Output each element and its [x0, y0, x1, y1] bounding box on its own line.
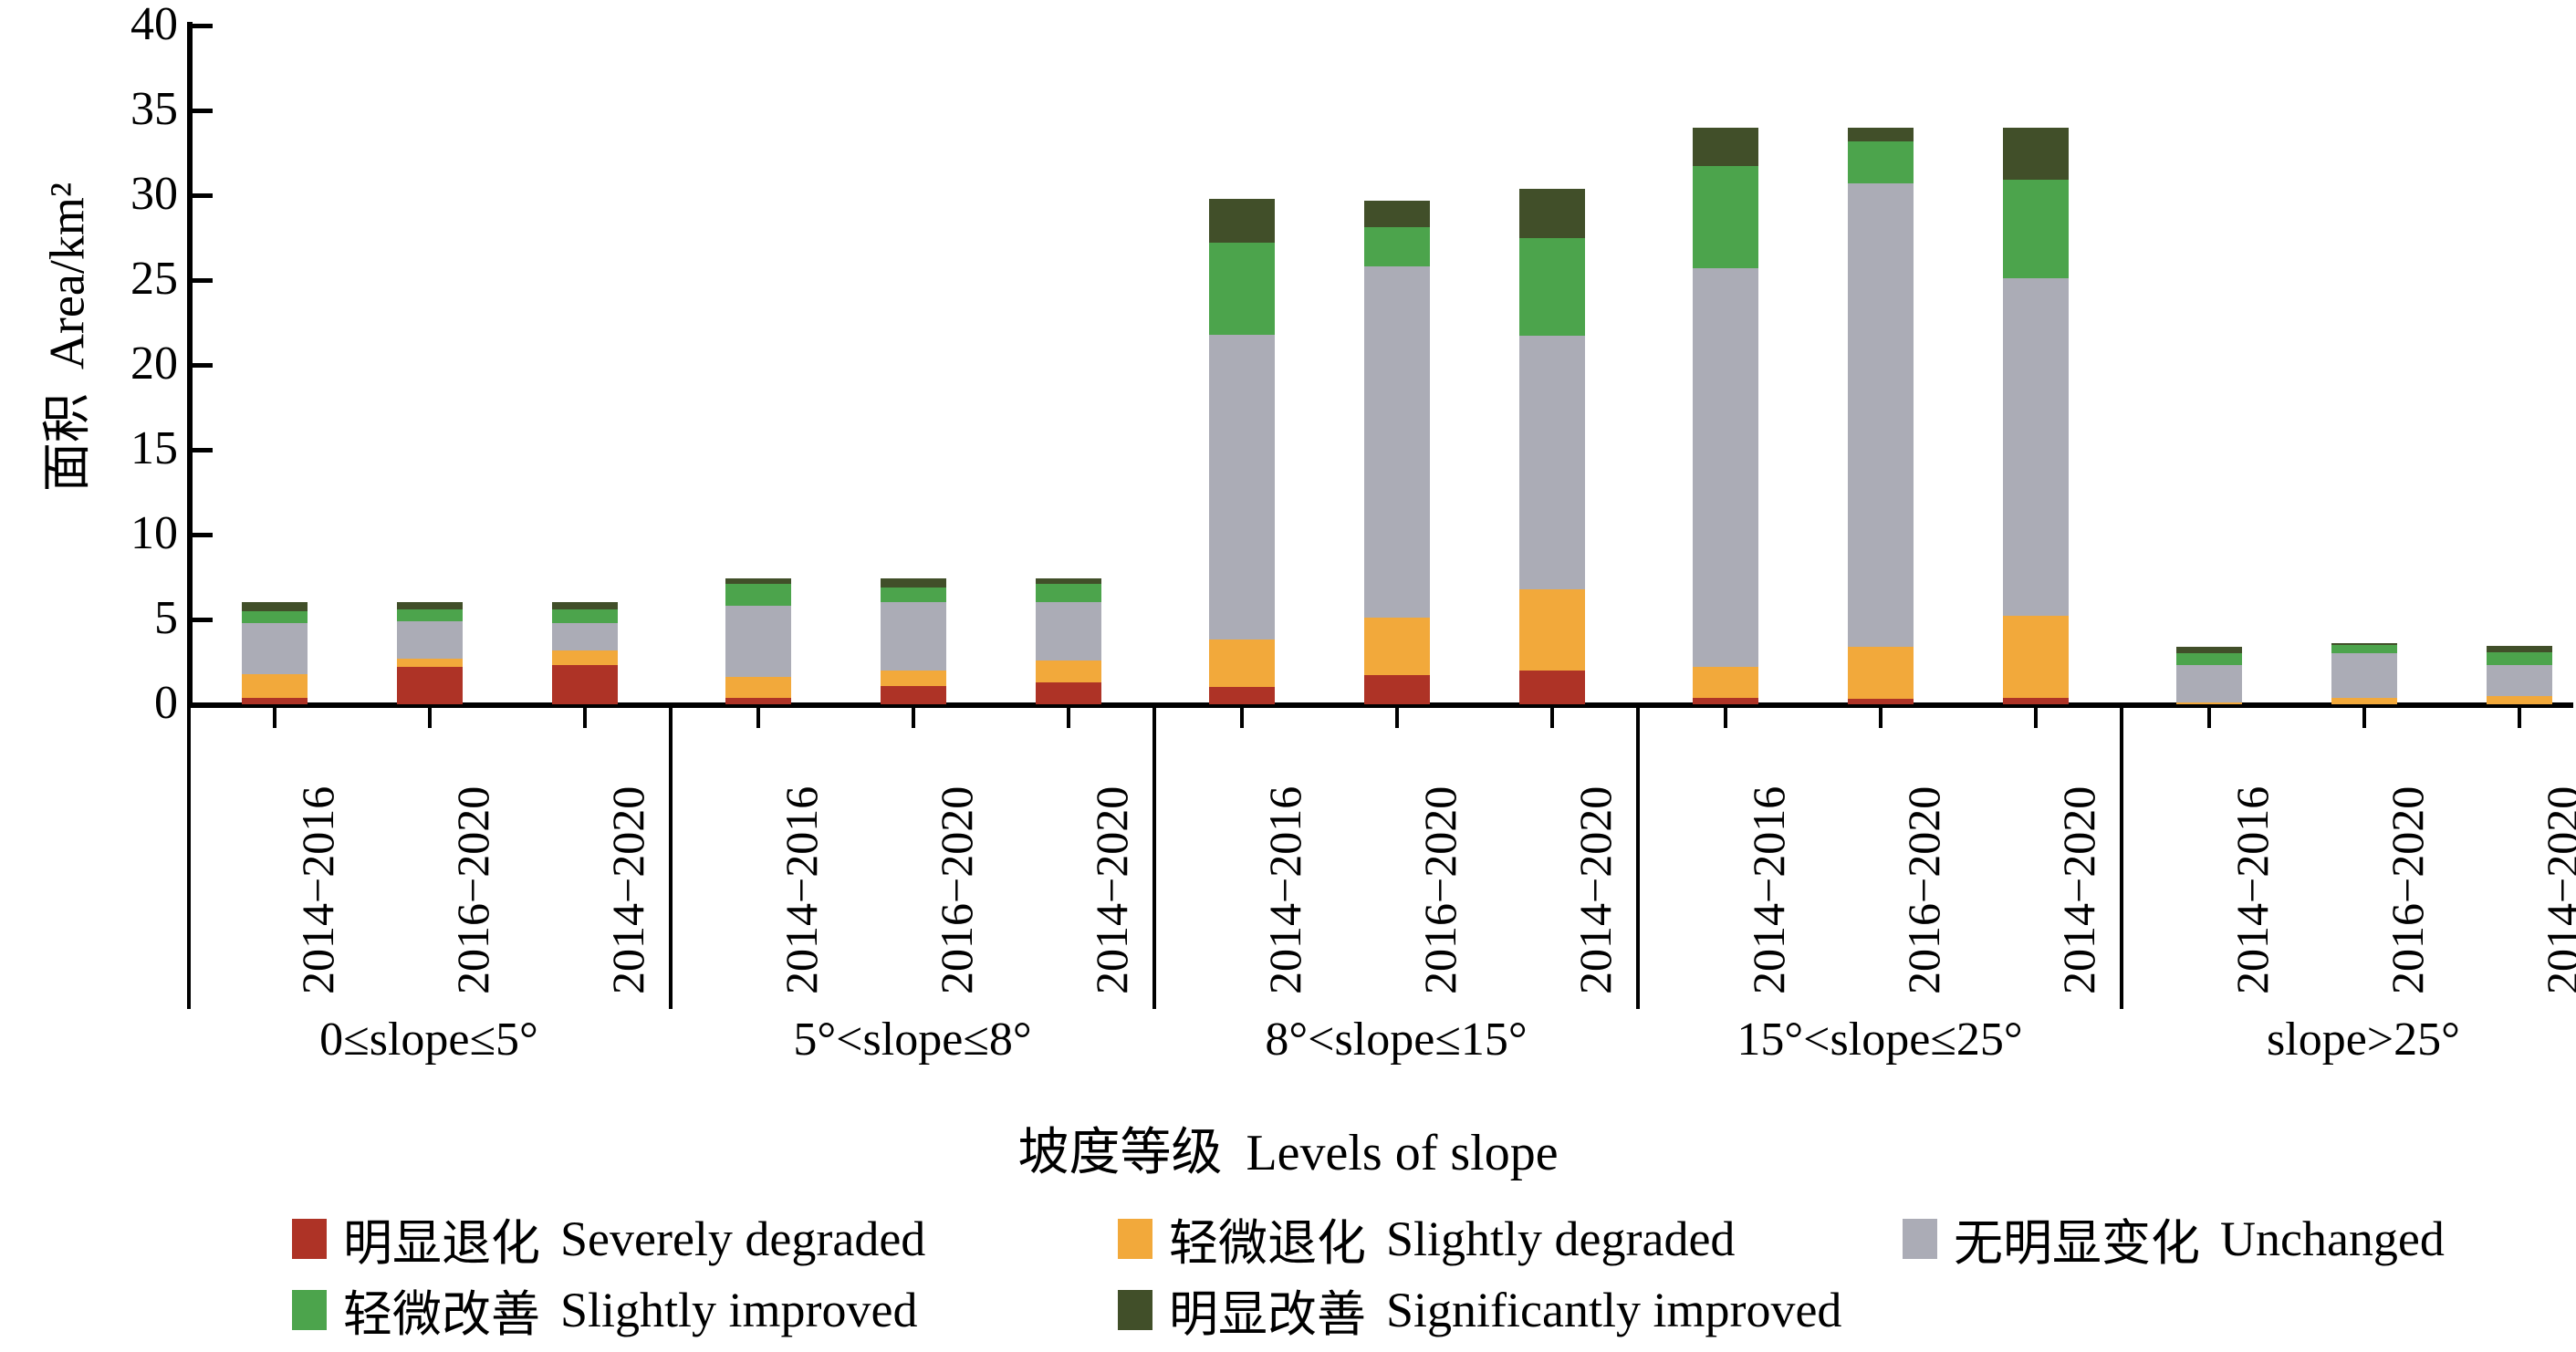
group-label: 8°<slope≤15° [1154, 1013, 1638, 1066]
x-axis-tick [1724, 708, 1727, 728]
x-axis-category-label: 2016−2020 [446, 786, 499, 994]
bar-segment [1519, 336, 1585, 588]
x-axis-tick [1240, 708, 1244, 728]
group-label: slope>25° [2122, 1013, 2576, 1066]
legend-label-cn: 轻微改善 [343, 1274, 540, 1346]
x-axis-category-label: 2016−2020 [1897, 786, 1950, 994]
slope-degradation-stacked-bar-chart: 面积Area/km² 0510152025303540 2014−2016201… [0, 0, 2576, 1352]
y-axis-tick-label: 30 [87, 171, 178, 218]
bar-segment [881, 602, 946, 670]
bar-segment [2176, 647, 2242, 653]
x-axis-tick [912, 708, 915, 728]
x-axis-tick [2362, 708, 2366, 728]
legend-label-en: Severely degraded [560, 1211, 925, 1267]
stacked-bar [1693, 128, 1758, 704]
bar-segment [2003, 180, 2069, 278]
x-axis-tick [1879, 708, 1882, 728]
bar-segment [1364, 227, 1430, 266]
bar-segment [1848, 699, 1914, 704]
bar-segment [1519, 238, 1585, 337]
bar-segment [1693, 268, 1758, 667]
stacked-bar [552, 602, 618, 704]
legend-label-cn: 轻微退化 [1169, 1202, 1366, 1274]
bar-segment [1848, 128, 1914, 141]
bar-segment [2003, 128, 2069, 181]
y-axis-tick-label: 20 [87, 340, 178, 388]
legend-label-cn: 明显改善 [1169, 1274, 1366, 1346]
x-axis-title-en: Levels of slope [1246, 1125, 1558, 1181]
bar-segment [1693, 128, 1758, 167]
bar-segment [1519, 671, 1585, 704]
y-axis-tick-label: 25 [87, 255, 178, 303]
bar-segment [1364, 675, 1430, 704]
bar-segment [1364, 618, 1430, 675]
x-axis-category-label: 2014−2020 [601, 786, 654, 994]
bar-segment [552, 602, 618, 608]
bar-segment [1693, 698, 1758, 704]
plot-area [190, 26, 2562, 704]
legend-label-en: Significantly improved [1386, 1282, 1841, 1338]
y-axis-tick-label: 5 [87, 595, 178, 642]
bar-segment [242, 623, 308, 674]
bar-segment [1693, 667, 1758, 697]
x-axis-category-label: 2016−2020 [930, 786, 983, 994]
x-axis-tick [583, 708, 587, 728]
group-separator [1152, 708, 1156, 1009]
legend-color-swatch [1118, 1290, 1152, 1330]
bar-segment [242, 674, 308, 698]
legend-color-swatch [1118, 1219, 1152, 1259]
y-axis-tick-label: 40 [87, 1, 178, 48]
bar-segment [1209, 640, 1275, 687]
bar-segment [2003, 698, 2069, 704]
bar-segment [881, 578, 946, 587]
legend-item[interactable]: 明显退化Severely degraded [292, 1202, 925, 1274]
stacked-bar [2487, 646, 2552, 704]
legend-color-swatch [292, 1290, 327, 1330]
bar-segment [1036, 682, 1101, 704]
group-separator [1636, 708, 1640, 1009]
x-axis-title: 坡度等级Levels of slope [0, 1111, 2576, 1185]
bar-segment [725, 584, 791, 606]
x-axis-tick [2207, 708, 2211, 728]
bar-segment [881, 686, 946, 704]
bar-segment [397, 602, 463, 608]
bar-segment [552, 623, 618, 650]
bar-segment [2487, 646, 2552, 652]
x-axis-category-label: 2014−2020 [1569, 786, 1622, 994]
bar-segment [1209, 687, 1275, 704]
bar-segment [725, 606, 791, 677]
x-axis-tick [2034, 708, 2038, 728]
group-separator [669, 708, 673, 1009]
bar-segment [2487, 665, 2552, 695]
stacked-bar [1848, 128, 1914, 704]
x-axis-category-label: 2014−2020 [2052, 786, 2105, 994]
bar-segment [2331, 653, 2397, 697]
bar-segment [2487, 652, 2552, 665]
bar-segment [1364, 201, 1430, 228]
stacked-bar [2003, 128, 2069, 704]
y-axis-tick-label: 10 [87, 510, 178, 557]
bar-segment [552, 650, 618, 666]
bar-segment [2176, 665, 2242, 702]
bar-segment [242, 602, 308, 610]
x-axis-category-label: 2016−2020 [2381, 786, 2434, 994]
legend-label-en: Slightly improved [560, 1282, 918, 1338]
bar-segment [552, 665, 618, 704]
x-axis-title-cn: 坡度等级 [1017, 1123, 1222, 1182]
bar-segment [2176, 702, 2242, 704]
bar-segment [1036, 602, 1101, 660]
bar-segment [2176, 653, 2242, 665]
bar-segment [397, 609, 463, 621]
group-label: 15°<slope≤25° [1638, 1013, 2122, 1066]
legend-label-en: Unchanged [2220, 1211, 2445, 1267]
legend-color-swatch [292, 1219, 327, 1259]
stacked-bar [2176, 647, 2242, 704]
x-axis-category-label: 2014−2020 [1085, 786, 1138, 994]
stacked-bar [242, 602, 308, 704]
group-label: 5°<slope≤8° [671, 1013, 1154, 1066]
bar-segment [2331, 645, 2397, 653]
bar-segment [242, 698, 308, 704]
bar-segment [1693, 166, 1758, 268]
x-axis-category-label: 2014−2016 [775, 786, 828, 994]
bar-segment [1209, 243, 1275, 334]
group-label: 0≤slope≤5° [187, 1013, 671, 1066]
bar-segment [1209, 335, 1275, 640]
legend-label-en: Slightly degraded [1386, 1211, 1735, 1267]
stacked-bar [1519, 189, 1585, 704]
group-separator [2120, 708, 2123, 1009]
bar-segment [2331, 698, 2397, 704]
x-axis-category-label: 2014−2016 [2226, 786, 2279, 994]
bar-segment [397, 621, 463, 659]
bar-segment [1848, 647, 1914, 700]
bar-segment [2003, 278, 2069, 616]
x-axis-category-label: 2014−2016 [291, 786, 344, 994]
bar-segment [725, 698, 791, 704]
bar-segment [1036, 584, 1101, 602]
bar-segment [1036, 660, 1101, 682]
y-axis-tick-label: 0 [87, 680, 178, 727]
bar-segment [2487, 696, 2552, 704]
x-axis-tick [756, 708, 760, 728]
stacked-bar [1209, 199, 1275, 704]
band-left-edge [187, 708, 191, 1009]
legend-item[interactable]: 轻微退化Slightly degraded [1118, 1202, 1735, 1274]
x-axis-category-label: 2016−2020 [1413, 786, 1466, 994]
x-axis-tick [273, 708, 276, 728]
bar-segment [1848, 141, 1914, 184]
stacked-bar [881, 578, 946, 704]
bar-segment [552, 609, 618, 623]
stacked-bar [2331, 643, 2397, 704]
y-axis-tick-label: 35 [87, 86, 178, 133]
bar-segment [1848, 183, 1914, 647]
bar-segment [2003, 616, 2069, 697]
x-axis-tick [1395, 708, 1399, 728]
bar-segment [881, 671, 946, 686]
x-axis-tick [1067, 708, 1070, 728]
stacked-bar [1036, 578, 1101, 704]
bar-segment [242, 611, 308, 623]
legend-label-cn: 无明显变化 [1954, 1202, 2200, 1274]
legend-item[interactable]: 明显改善Significantly improved [1118, 1274, 1841, 1346]
legend-label-cn: 明显退化 [343, 1202, 540, 1274]
bar-segment [725, 677, 791, 697]
stacked-bar [397, 602, 463, 704]
bar-segment [881, 588, 946, 603]
legend-color-swatch [1903, 1219, 1937, 1259]
stacked-bar [725, 578, 791, 704]
x-axis-category-label: 2014−2016 [1258, 786, 1311, 994]
bar-segment [397, 667, 463, 704]
stacked-bar [1364, 201, 1430, 704]
legend-item[interactable]: 无明显变化Unchanged [1903, 1202, 2445, 1274]
bar-segment [1209, 199, 1275, 243]
legend-item[interactable]: 轻微改善Slightly improved [292, 1274, 918, 1346]
x-axis-category-label: 2014−2016 [1742, 786, 1795, 994]
x-axis-tick [2518, 708, 2521, 728]
y-axis-tick-label: 15 [87, 425, 178, 473]
x-axis-tick [428, 708, 432, 728]
x-axis-category-label: 2014−2020 [2536, 786, 2576, 994]
bar-segment [1364, 266, 1430, 618]
bar-segment [1519, 589, 1585, 671]
bar-segment [397, 659, 463, 667]
bar-segment [1519, 189, 1585, 238]
x-axis-tick [1550, 708, 1554, 728]
